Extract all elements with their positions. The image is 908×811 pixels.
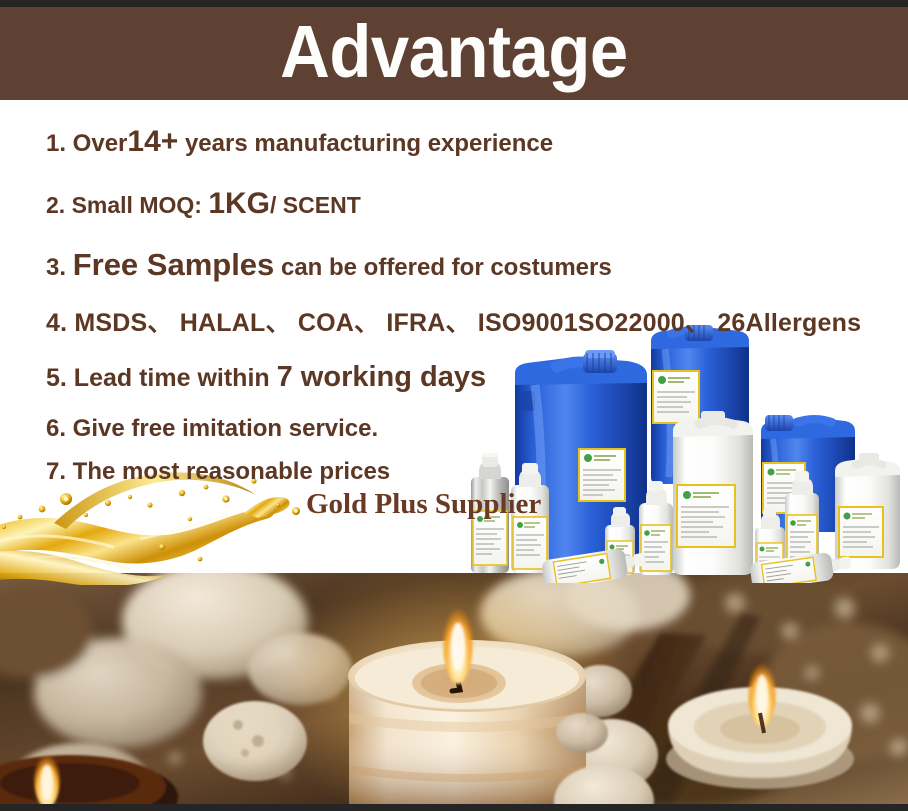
advantage-trail-3: can be offered for costumers xyxy=(274,254,611,281)
advantage-lead-4: MSDS、 HALAL、 COA、 IFRA、 ISO9001SO22000、 … xyxy=(67,309,861,337)
advantage-emphasis-2: 1KG xyxy=(208,187,270,220)
header-banner: Advantage xyxy=(0,7,908,100)
advantage-lead-2: Small MOQ: xyxy=(65,192,208,218)
advantage-lead-1: Over xyxy=(66,130,127,157)
top-rail xyxy=(0,0,908,7)
advantage-number-6: 6. xyxy=(46,415,66,442)
advantage-number-2: 2. xyxy=(46,192,65,218)
advantage-list: 1. Over14+ years manufacturing experienc… xyxy=(0,100,908,485)
advantage-item-3: 3. Free Samples can be offered for costu… xyxy=(0,249,908,282)
candle-spa-photo xyxy=(0,573,908,804)
advantage-lead-3 xyxy=(66,254,73,281)
advantage-emphasis-5: 7 working days xyxy=(277,361,487,393)
advantage-item-1: 1. Over14+ years manufacturing experienc… xyxy=(0,126,908,158)
advantage-lead-7: The most reasonable prices xyxy=(66,458,390,485)
advantage-item-7: 7. The most reasonable prices xyxy=(0,459,908,484)
advantage-item-5: 5. Lead time within 7 working days xyxy=(0,362,908,392)
advantage-lead-6: Give free imitation service. xyxy=(66,415,378,442)
advantage-banner-page: Advantage 1. Over14+ years manufacturing… xyxy=(0,0,908,811)
advantage-item-2: 2. Small MOQ: 1KG/ SCENT xyxy=(0,188,908,220)
advantage-item-6: 6. Give free imitation service. xyxy=(0,416,908,441)
advantage-number-5: 5. xyxy=(46,364,67,392)
advantage-lead-5: Lead time within xyxy=(67,364,277,392)
advantage-number-7: 7. xyxy=(46,458,66,485)
bottom-rail xyxy=(0,804,908,811)
gold-plus-supplier-tagline: Gold Plus Supplier xyxy=(306,490,541,519)
advantage-number-1: 1. xyxy=(46,130,66,157)
advantage-number-3: 3. xyxy=(46,254,66,281)
advantage-number-4: 4. xyxy=(46,309,67,337)
advantage-emphasis-3: Free Samples xyxy=(73,247,275,282)
page-title: Advantage xyxy=(280,15,628,89)
advantage-emphasis-1: 14+ xyxy=(127,125,178,158)
advantage-trail-2: / SCENT xyxy=(270,192,361,218)
advantage-trail-1: years manufacturing experience xyxy=(178,130,553,157)
advantage-item-4: 4. MSDS、 HALAL、 COA、 IFRA、 ISO9001SO2200… xyxy=(0,310,908,336)
